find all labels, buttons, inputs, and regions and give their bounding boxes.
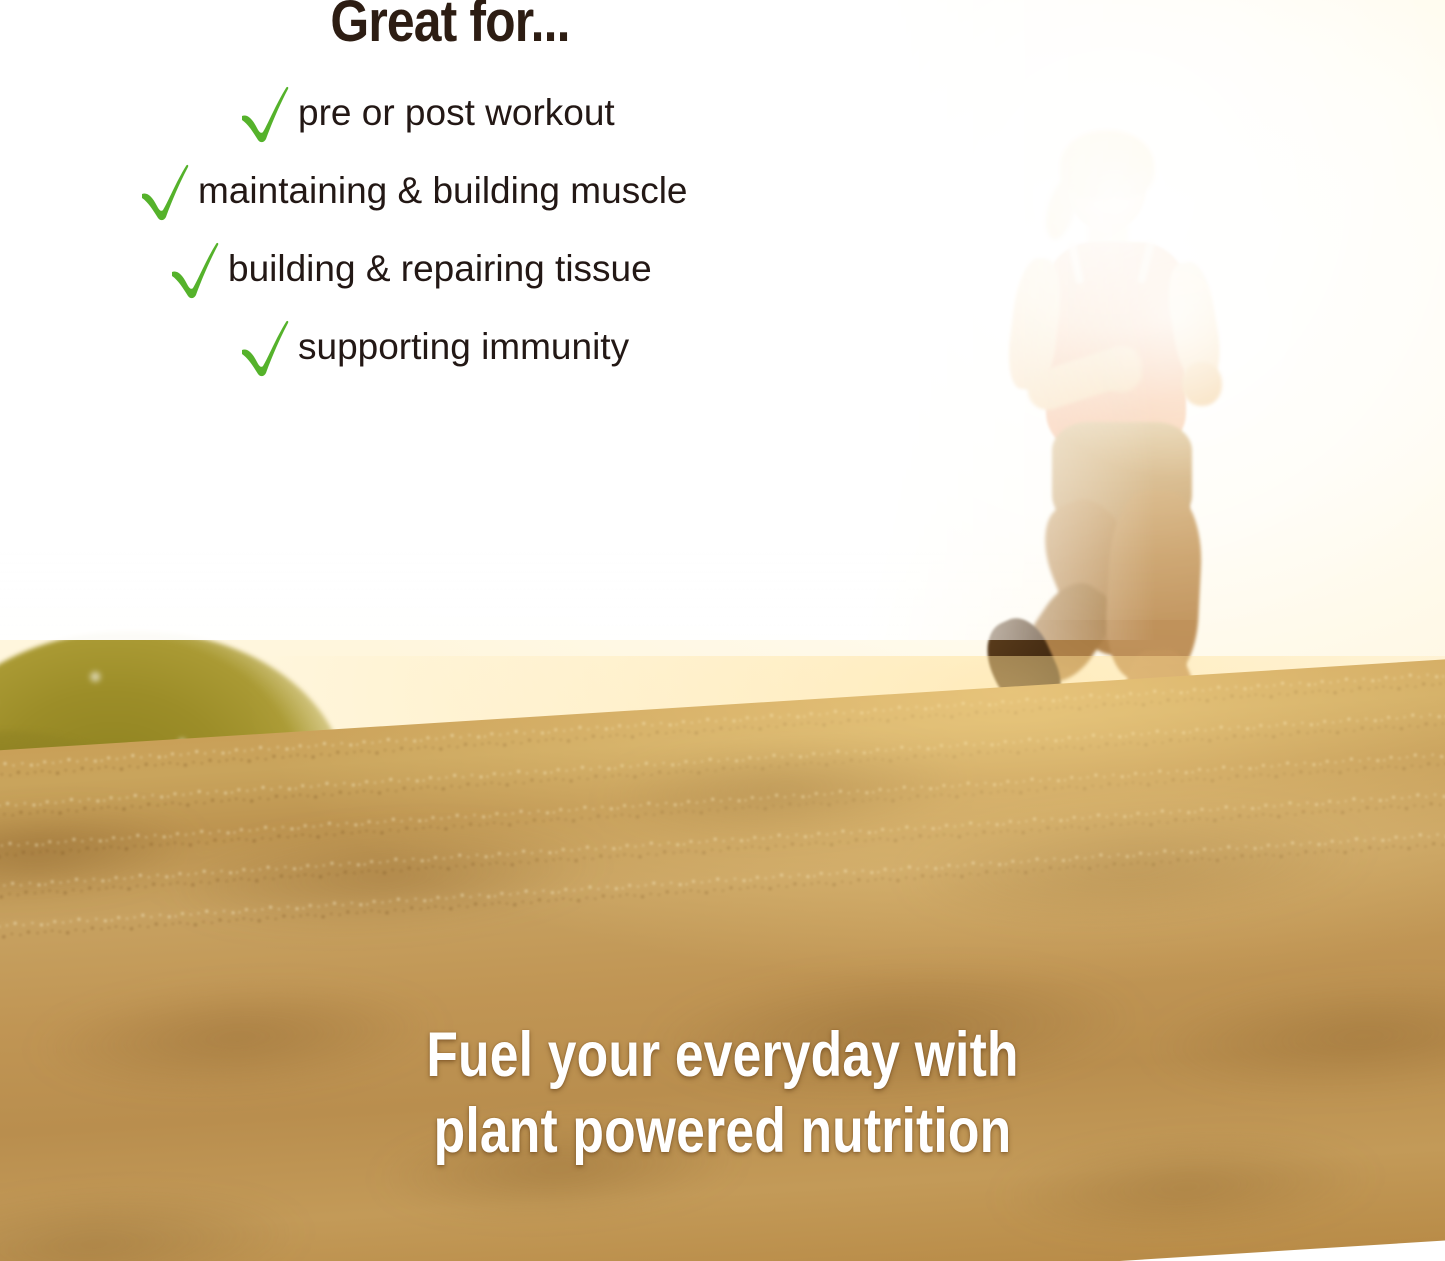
list-item: building & repairing tissue: [0, 238, 900, 300]
page-title: Great for...: [63, 0, 837, 55]
tagline-line-2: plant powered nutrition: [130, 1093, 1315, 1169]
green-checkmark-icon: [138, 160, 190, 222]
hair: [1060, 130, 1154, 200]
list-item: supporting immunity: [0, 316, 900, 378]
benefits-list: pre or post workout maintaining & buildi…: [0, 82, 900, 394]
list-item-label: building & repairing tissue: [228, 248, 808, 290]
promotional-product-banner: Great for... pre or post workout maintai…: [0, 0, 1445, 1261]
left-hand: [1100, 346, 1142, 392]
green-checkmark-icon: [168, 238, 220, 300]
tagline: Fuel your everyday with plant powered nu…: [130, 1017, 1315, 1169]
list-item-label: supporting immunity: [298, 326, 748, 368]
list-item-label: pre or post workout: [298, 92, 738, 134]
list-item: pre or post workout: [0, 82, 900, 144]
green-checkmark-icon: [238, 82, 290, 144]
list-item-label: maintaining & building muscle: [198, 170, 848, 212]
gravel-path: [0, 658, 1445, 1261]
green-checkmark-icon: [238, 316, 290, 378]
tagline-line-1: Fuel your everyday with: [130, 1017, 1315, 1093]
right-hand: [1182, 362, 1222, 406]
list-item: maintaining & building muscle: [0, 160, 900, 222]
